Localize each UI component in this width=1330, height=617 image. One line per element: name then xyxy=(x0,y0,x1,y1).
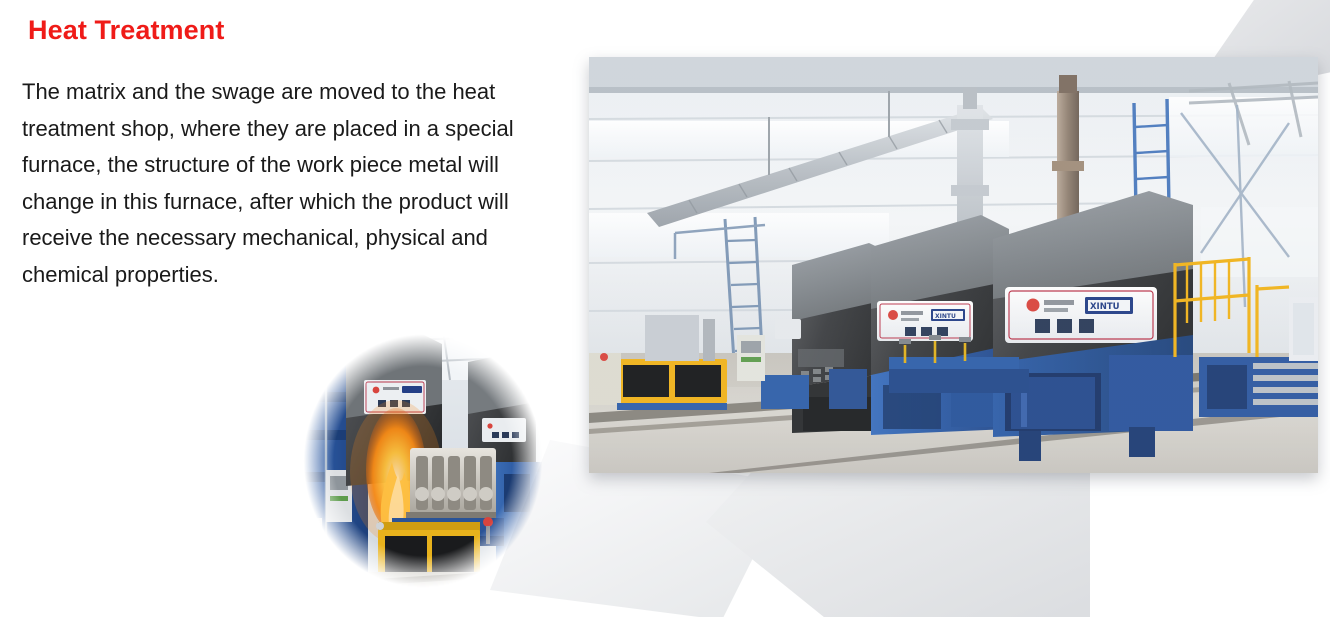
heat-treatment-shop-photo: XINTU xyxy=(589,57,1318,473)
page-title: Heat Treatment xyxy=(28,15,224,46)
circle-photo-clip xyxy=(292,322,554,600)
furnace-flame-illustration xyxy=(292,322,554,600)
heat-treatment-shop-illustration: XINTU xyxy=(589,57,1318,473)
body-paragraph: The matrix and the swage are moved to th… xyxy=(22,74,557,293)
furnace-flame-closeup-photo xyxy=(292,322,554,600)
